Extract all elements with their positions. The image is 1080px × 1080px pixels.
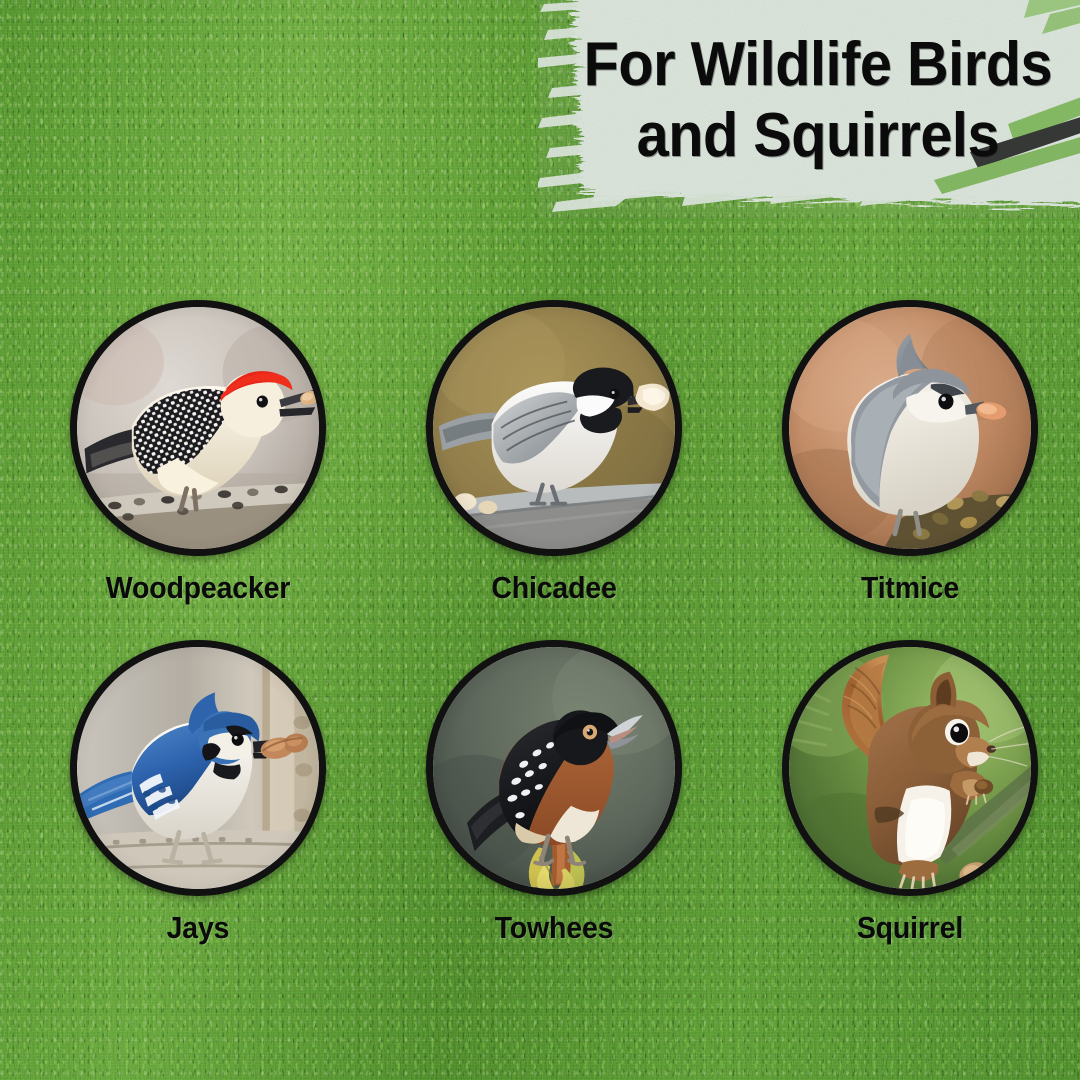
headline-text-block: For Wildlife Birds and Squirrels [538, 0, 1080, 218]
caption-towhees: Towhees [416, 910, 692, 946]
titmouse-icon [789, 307, 1031, 549]
headline-line-1: For Wildlife Birds [584, 35, 1052, 96]
bluejay-icon [77, 647, 319, 889]
gallery-item-chicadee[interactable]: Chicadee [404, 300, 704, 606]
squirrel-photo-circle[interactable] [782, 640, 1038, 896]
woodpecker-icon [77, 307, 319, 549]
headline-banner: For Wildlife Birds and Squirrels [538, 0, 1080, 218]
caption-titmice: Titmice [772, 570, 1048, 606]
gallery-item-titmice[interactable]: Titmice [760, 300, 1060, 606]
woodpecker-photo-circle[interactable] [70, 300, 326, 556]
caption-jays: Jays [60, 910, 336, 946]
towhee-photo-circle[interactable] [426, 640, 682, 896]
gallery-row-2: Jays [0, 640, 1080, 980]
chickadee-icon [433, 307, 675, 549]
caption-chicadee: Chicadee [416, 570, 692, 606]
gallery-row-1: Woodpeacker [0, 300, 1080, 640]
caption-woodpeacker: Woodpeacker [60, 570, 336, 606]
headline-line-2: and Squirrels [637, 106, 999, 167]
gallery-item-squirrel[interactable]: Squirrel [760, 640, 1060, 946]
gallery-item-woodpeacker[interactable]: Woodpeacker [48, 300, 348, 606]
squirrel-icon [789, 647, 1031, 889]
towhee-icon [433, 647, 675, 889]
gallery-item-jays[interactable]: Jays [48, 640, 348, 946]
caption-squirrel: Squirrel [772, 910, 1048, 946]
bluejay-photo-circle[interactable] [70, 640, 326, 896]
gallery-item-towhees[interactable]: Towhees [404, 640, 704, 946]
chickadee-photo-circle[interactable] [426, 300, 682, 556]
titmouse-photo-circle[interactable] [782, 300, 1038, 556]
species-gallery: Woodpeacker [0, 300, 1080, 980]
